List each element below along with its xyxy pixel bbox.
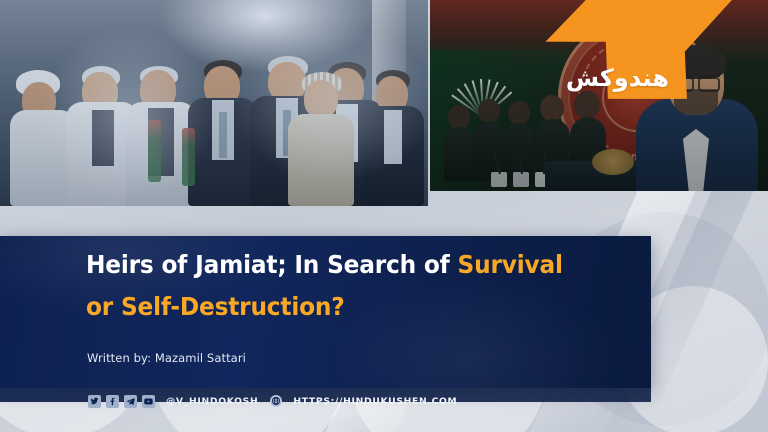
footer-bar: @V_HINDOKOSH HTTPS://HINDUKUSHEN.COM [0,390,768,412]
telegram-icon[interactable] [124,395,137,408]
globe-icon [270,395,282,407]
twitter-icon[interactable] [88,395,101,408]
headline-line-1: Heirs of Jamiat; In Search of Survival [86,252,588,277]
headline-accent-survival: Survival [458,250,563,279]
facebook-icon[interactable] [106,395,119,408]
website-url[interactable]: HTTPS://HINDUKUSHEN.COM [293,396,457,407]
logo-wordmark: هندوکش [539,66,669,90]
hindukush-logo[interactable]: هندوکش و [533,0,741,100]
page-title: Heirs of Jamiat; In Search of Survival o… [86,252,588,319]
headline-plain-text: Heirs of Jamiat; In Search of [86,250,458,279]
poster-canvas: JAMIAT-E [0,0,768,432]
youtube-icon[interactable] [142,395,155,408]
author-byline: Written by: Mazamil Sattari [87,351,246,365]
headline-panel: Heirs of Jamiat; In Search of Survival o… [0,236,651,388]
photo-haze-overlay [0,0,428,206]
conference-audience-photo [0,0,428,206]
headline-line-2: or Self-Destruction? [86,294,588,319]
social-handle[interactable]: @V_HINDOKOSH [166,396,258,407]
logo-accent-mark: و [665,68,687,94]
